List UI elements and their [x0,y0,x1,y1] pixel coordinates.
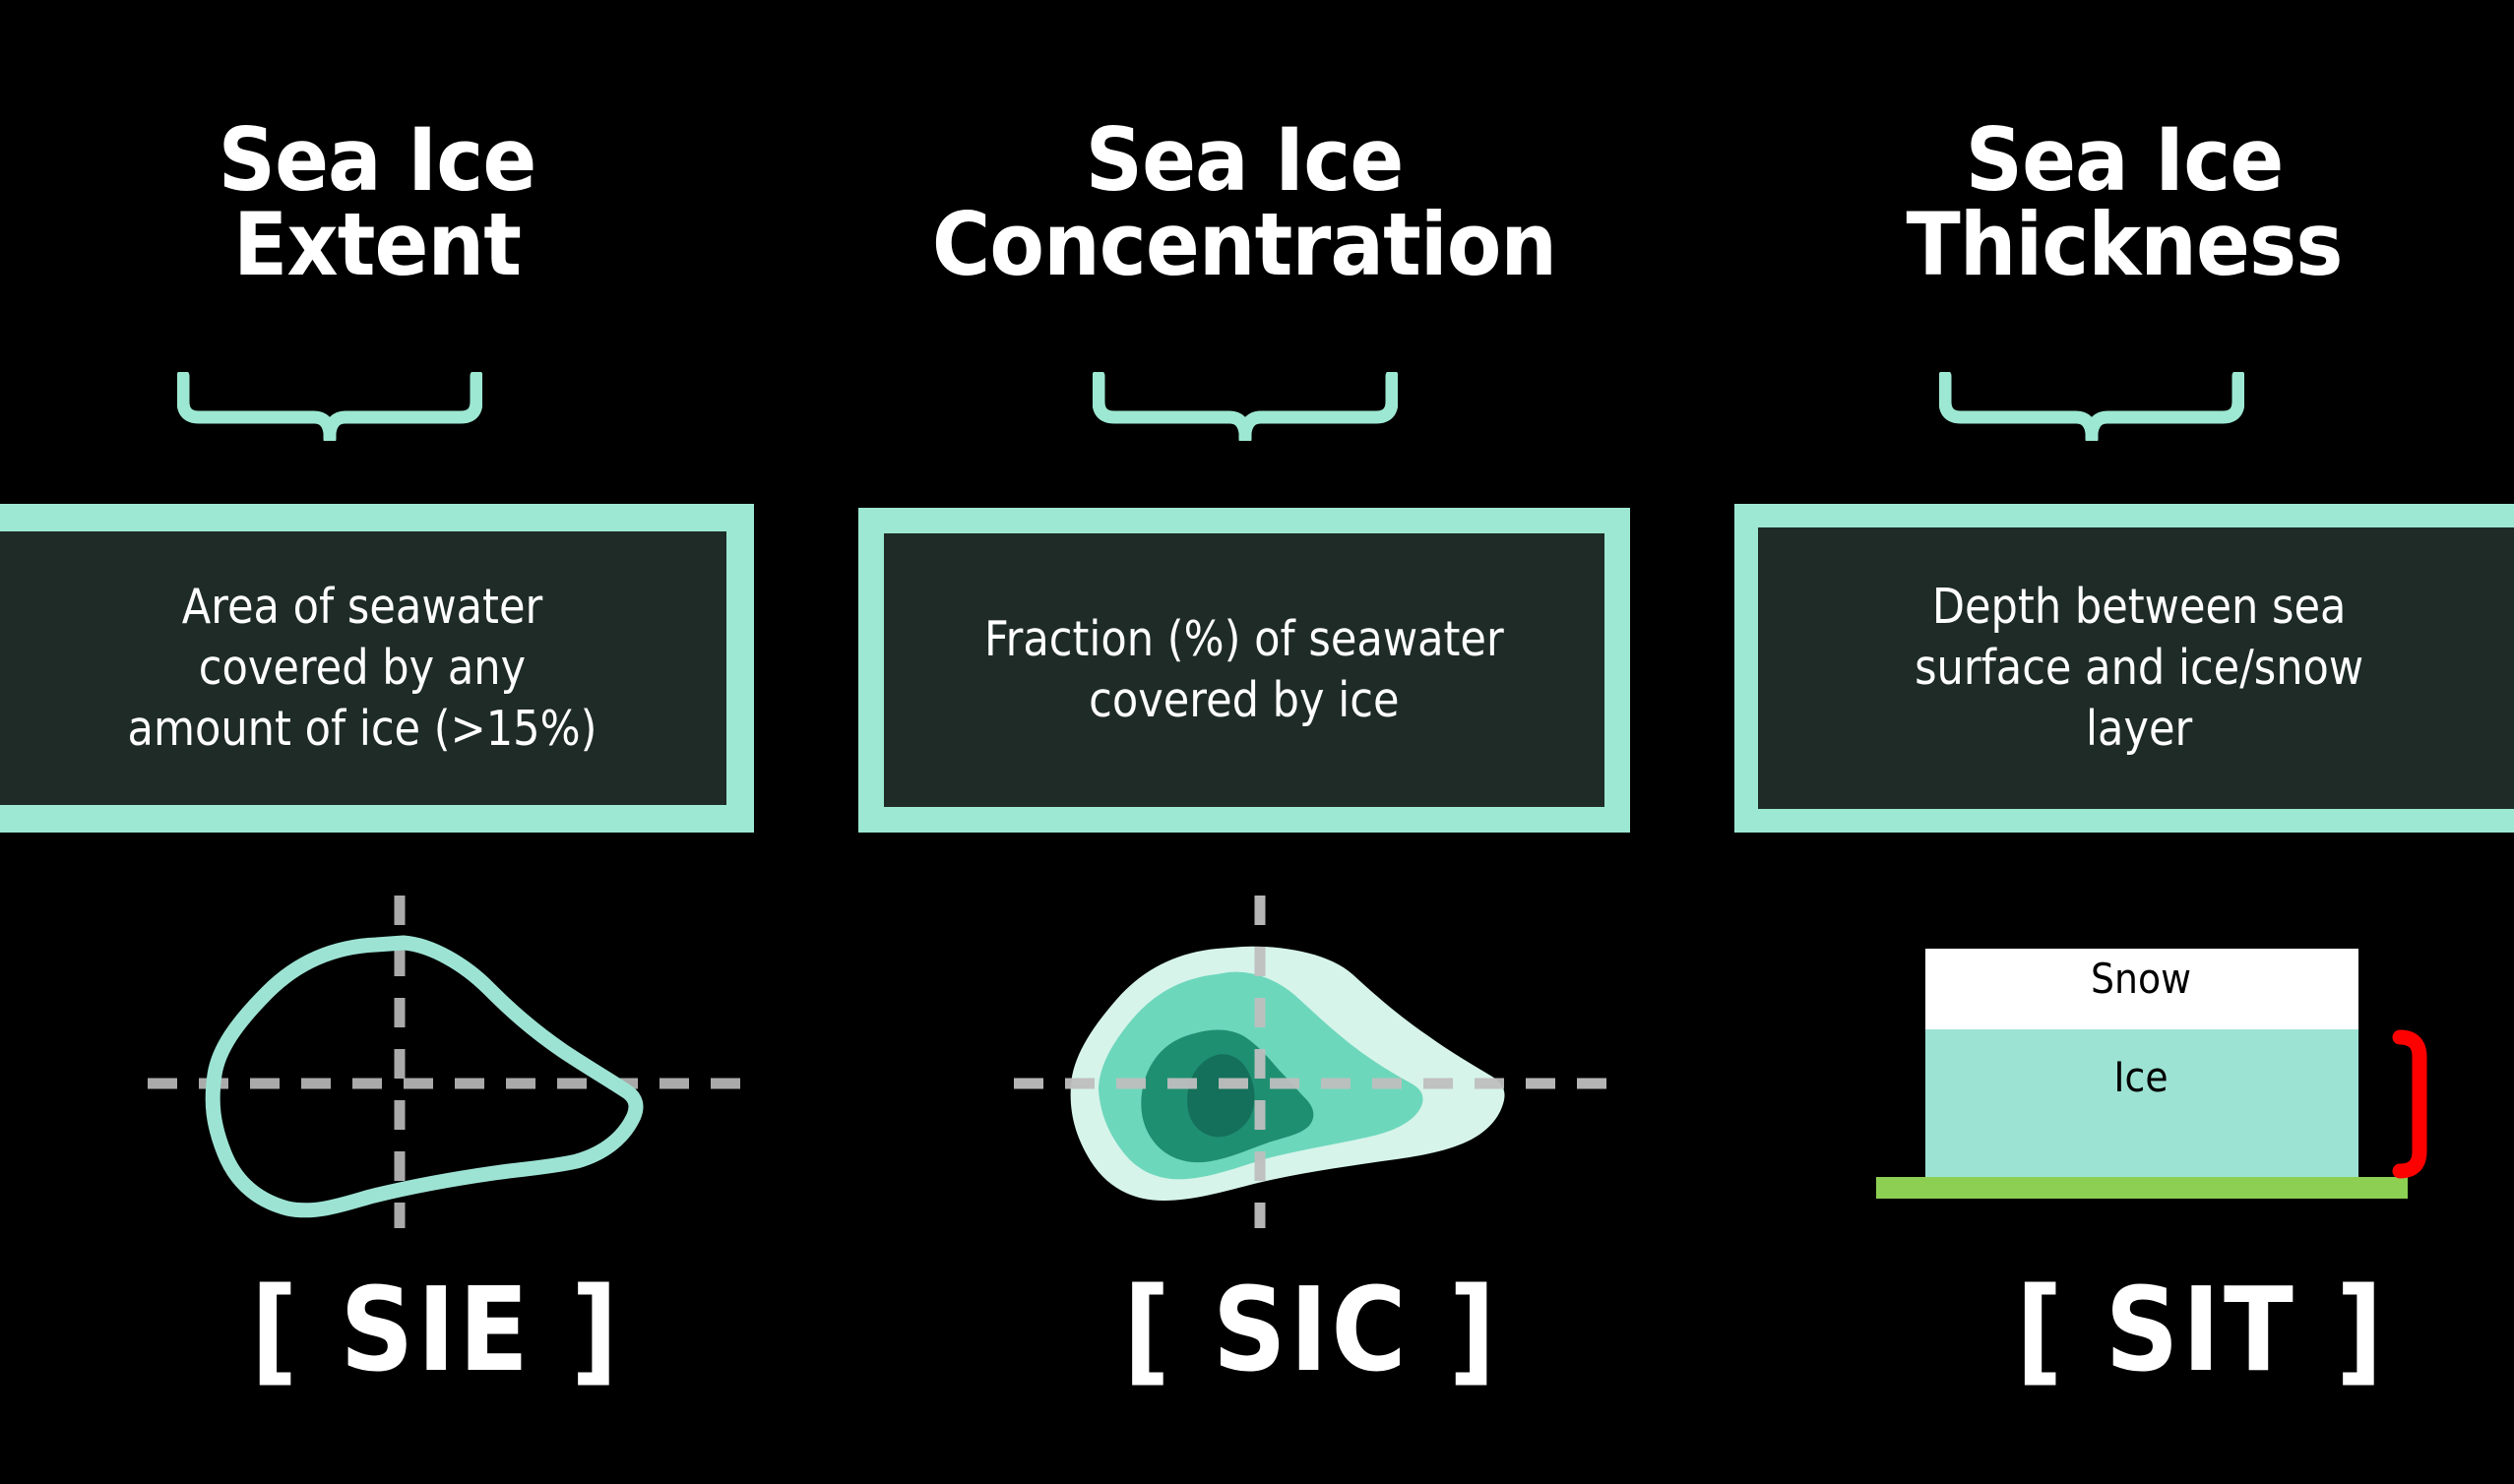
curly-brace-icon-sie [177,372,482,441]
thickness-bracket-icon [2400,1037,2420,1171]
snow-layer-label: Snow [1946,955,2336,1003]
column-title-sea-ice-extent: Sea Ice Extent [31,118,724,287]
diagram-sea-ice-concentration [984,866,1634,1260]
infographic-canvas: Sea Ice Extent Sea Ice Concentration Sea… [0,0,2514,1484]
acronym-sic: [ SIC ] [972,1262,1651,1397]
description-box-sea-ice-thickness: Depth between sea surface and ice/snow l… [1734,504,2514,833]
description-text-sie: Area of seawater covered by any amount o… [119,577,605,759]
ice-layer-label: Ice [1946,1053,2336,1101]
diagram-sea-ice-extent [118,866,768,1260]
curly-brace-icon-sit [1939,372,2244,441]
acronym-sit: [ SIT ] [1858,1262,2514,1397]
description-box-sea-ice-extent: Area of seawater covered by any amount o… [0,504,754,833]
sea-surface-line [1876,1177,2408,1199]
acronym-sie: [ SIE ] [104,1262,768,1397]
curly-brace-icon-sic [1093,372,1398,441]
ice-layer-block [1925,1029,2358,1177]
column-title-sea-ice-concentration: Sea Ice Concentration [889,118,1599,287]
column-title-sea-ice-thickness: Sea Ice Thickness [1766,118,2483,287]
description-box-sea-ice-concentration: Fraction (%) of seawater covered by ice [858,508,1630,833]
description-text-sit: Depth between sea surface and ice/snow l… [1906,577,2372,759]
sea-ice-extent-outline [213,943,636,1210]
description-text-sic: Fraction (%) of seawater covered by ice [975,609,1512,730]
